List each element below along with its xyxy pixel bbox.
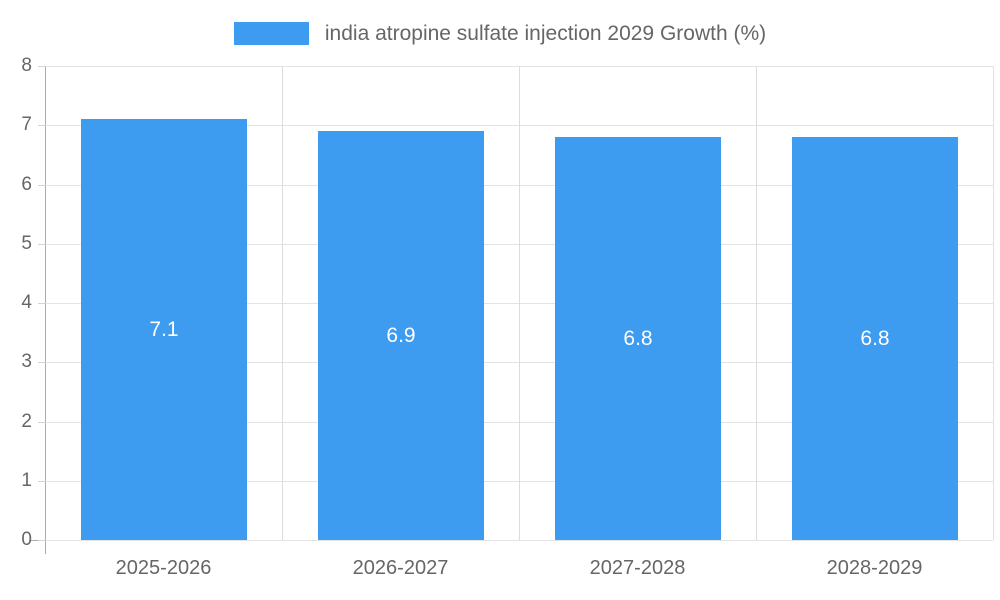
y-axis-tick (38, 66, 46, 67)
legend-entry-label: india atropine sulfate injection 2029 Gr… (325, 23, 766, 44)
bar[interactable]: 6.9 (318, 131, 484, 540)
y-axis-label: 2 (2, 412, 32, 431)
x-gridline (756, 66, 757, 540)
x-axis-label: 2028-2029 (756, 558, 993, 578)
bar-value-label: 7.1 (81, 319, 247, 340)
chart-legend: india atropine sulfate injection 2029 Gr… (0, 14, 1000, 52)
bar-value-label: 6.9 (318, 325, 484, 346)
x-axis-label: 2025-2026 (45, 558, 282, 578)
y-axis-label: 3 (2, 352, 32, 371)
bar-value-label: 6.8 (555, 328, 721, 349)
y-axis-label: 5 (2, 234, 32, 253)
bar-chart: india atropine sulfate injection 2029 Gr… (0, 0, 1000, 600)
y-gridline (45, 540, 993, 541)
legend-color-swatch (234, 22, 309, 45)
y-axis-tick (38, 125, 46, 126)
y-axis-tick (38, 185, 46, 186)
y-axis-label: 0 (2, 530, 32, 549)
y-axis-tick (38, 422, 46, 423)
plot-area: 7.16.96.86.8 (45, 66, 994, 540)
bar[interactable]: 6.8 (555, 137, 721, 540)
y-axis-tick (38, 303, 46, 304)
bar[interactable]: 6.8 (792, 137, 958, 540)
y-axis-label: 6 (2, 175, 32, 194)
x-gridline (519, 66, 520, 540)
y-axis-label: 1 (2, 471, 32, 490)
y-axis-label: 4 (2, 293, 32, 312)
y-axis-label: 7 (2, 115, 32, 134)
bar-value-label: 6.8 (792, 328, 958, 349)
x-gridline (282, 66, 283, 540)
y-axis-tick (38, 362, 46, 363)
y-axis-tick (38, 540, 46, 541)
x-axis-label: 2027-2028 (519, 558, 756, 578)
y-axis-tick (38, 244, 46, 245)
y-axis-tick (38, 481, 46, 482)
y-axis-label: 8 (2, 56, 32, 75)
legend-entry[interactable]: india atropine sulfate injection 2029 Gr… (234, 22, 766, 45)
bar[interactable]: 7.1 (81, 119, 247, 540)
x-axis-label: 2026-2027 (282, 558, 519, 578)
